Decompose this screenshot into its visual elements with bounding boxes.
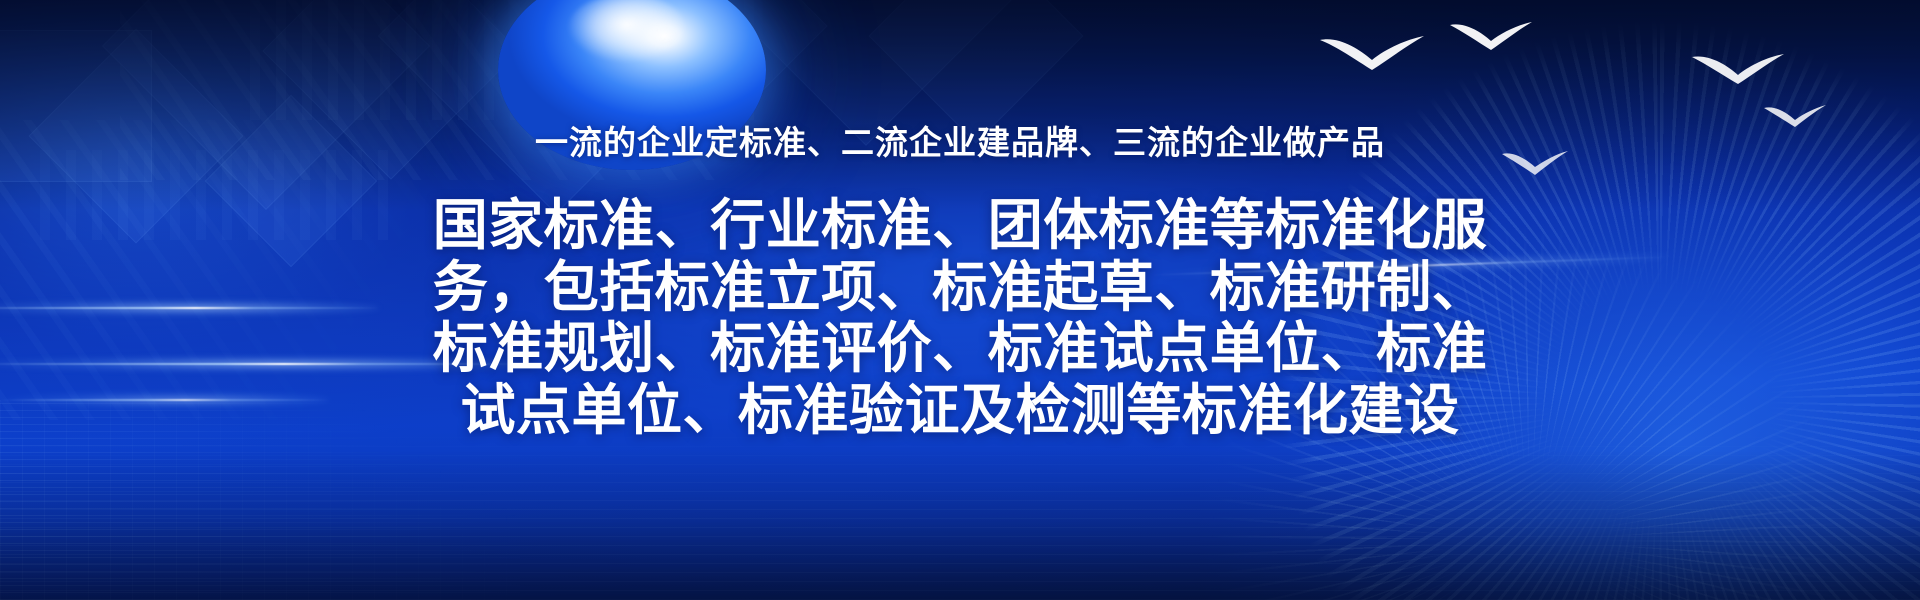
banner-body-text: 国家标准、行业标准、团体标准等标准化服 务，包括标准立项、标准起草、标准研制、 … xyxy=(330,195,1590,441)
banner-headline: 一流的企业定标准、二流企业建品牌、三流的企业做产品 xyxy=(535,125,1385,161)
body-line-2: 务，包括标准立项、标准起草、标准研制、 xyxy=(330,257,1590,319)
body-line-4: 试点单位、标准验证及检测等标准化建设 xyxy=(330,380,1590,442)
banner-text-block: 一流的企业定标准、二流企业建品牌、三流的企业做产品 国家标准、行业标准、团体标准… xyxy=(0,0,1920,600)
body-line-1: 国家标准、行业标准、团体标准等标准化服 xyxy=(330,195,1590,257)
body-line-3: 标准规划、标准评价、标准试点单位、标准 xyxy=(330,318,1590,380)
promotional-banner: 一流的企业定标准、二流企业建品牌、三流的企业做产品 国家标准、行业标准、团体标准… xyxy=(0,0,1920,600)
